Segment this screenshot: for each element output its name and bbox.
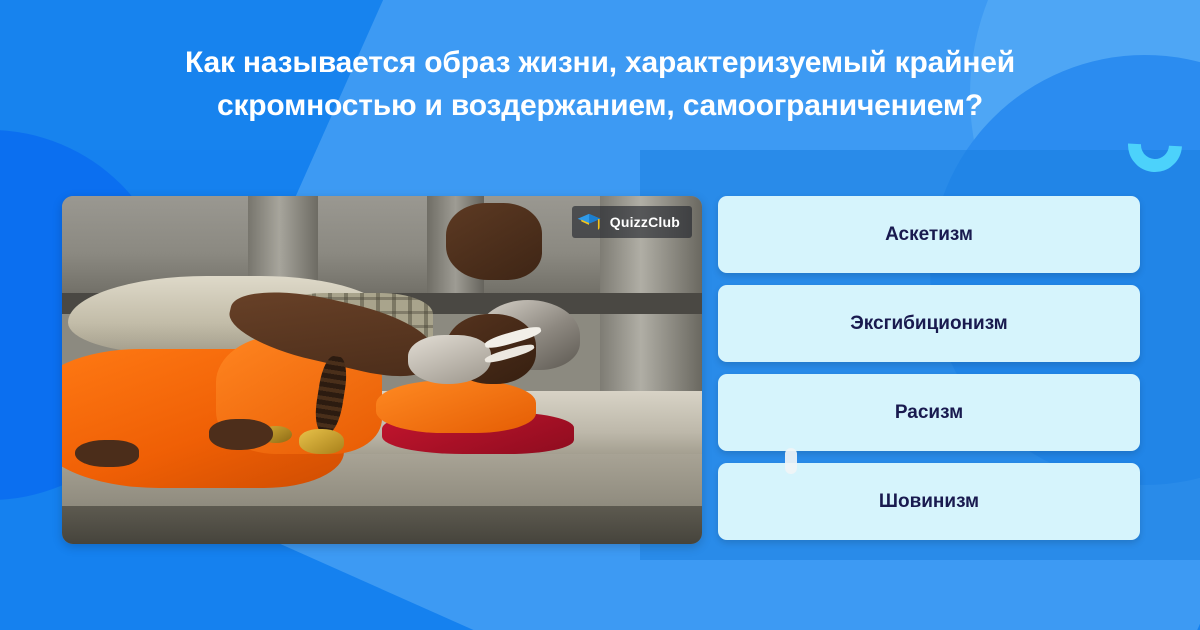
image-ascetic-beard [408,335,491,384]
answer-option-1[interactable]: Аскетизм [718,196,1140,273]
answer-option-1-label: Аскетизм [885,224,973,246]
image-brass-bell [299,429,344,453]
image-ascetic-hand [209,419,273,450]
image-ascetic-foot [75,440,139,468]
answer-option-4[interactable]: Шовинизм [718,463,1140,540]
answer-option-3[interactable]: Расизм [718,374,1140,451]
image-ascetic-leg [446,203,542,280]
scrollbar-thumb[interactable] [785,448,797,474]
question-image [62,196,702,544]
answer-options-list: Аскетизм Эксгибиционизм Расизм Шовинизм [718,196,1140,540]
answer-option-2[interactable]: Эксгибиционизм [718,285,1140,362]
quizzclub-watermark: QuizzClub [572,206,692,238]
image-orange-pillow-cloth [376,380,536,432]
graduation-cap-icon [576,209,602,235]
answer-option-2-label: Эксгибиционизм [850,313,1008,335]
question-image-card: QuizzClub [62,196,702,544]
image-stone-ledge-base [62,506,702,544]
question-text: Как называется образ жизни, характеризуе… [100,42,1100,127]
answer-option-3-label: Расизм [895,402,963,424]
quizzclub-watermark-label: QuizzClub [610,214,680,230]
answer-option-4-label: Шовинизм [879,491,979,513]
